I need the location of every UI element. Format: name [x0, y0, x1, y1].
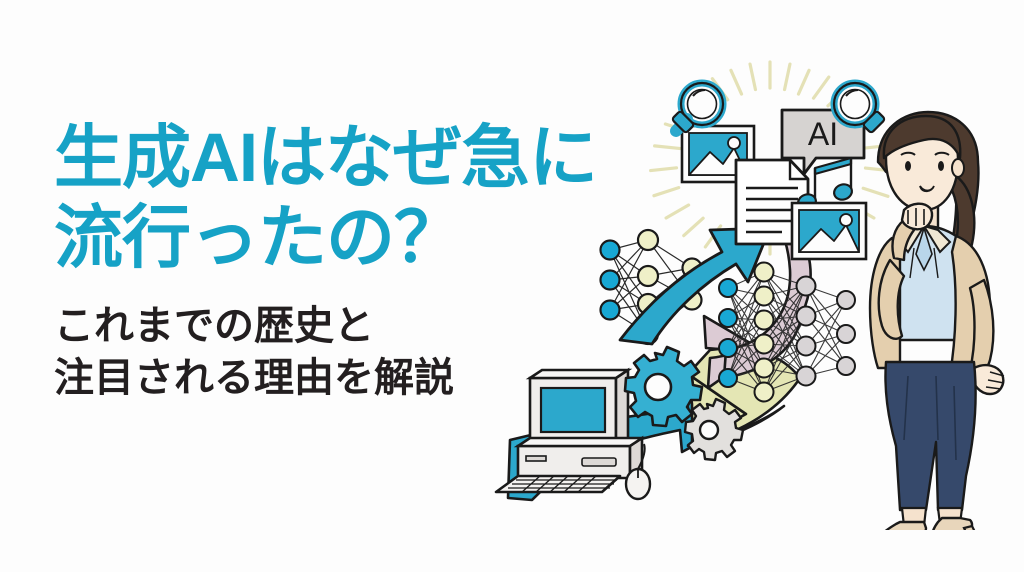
ai-bubble-text: AI [808, 116, 838, 152]
gear-large-icon [625, 347, 702, 426]
woman-thinking [838, 110, 1024, 530]
poster-canvas: 生成AIはなぜ急に 流行ったの？ これまでの歴史と 注目される理由を解説 [0, 0, 1024, 572]
